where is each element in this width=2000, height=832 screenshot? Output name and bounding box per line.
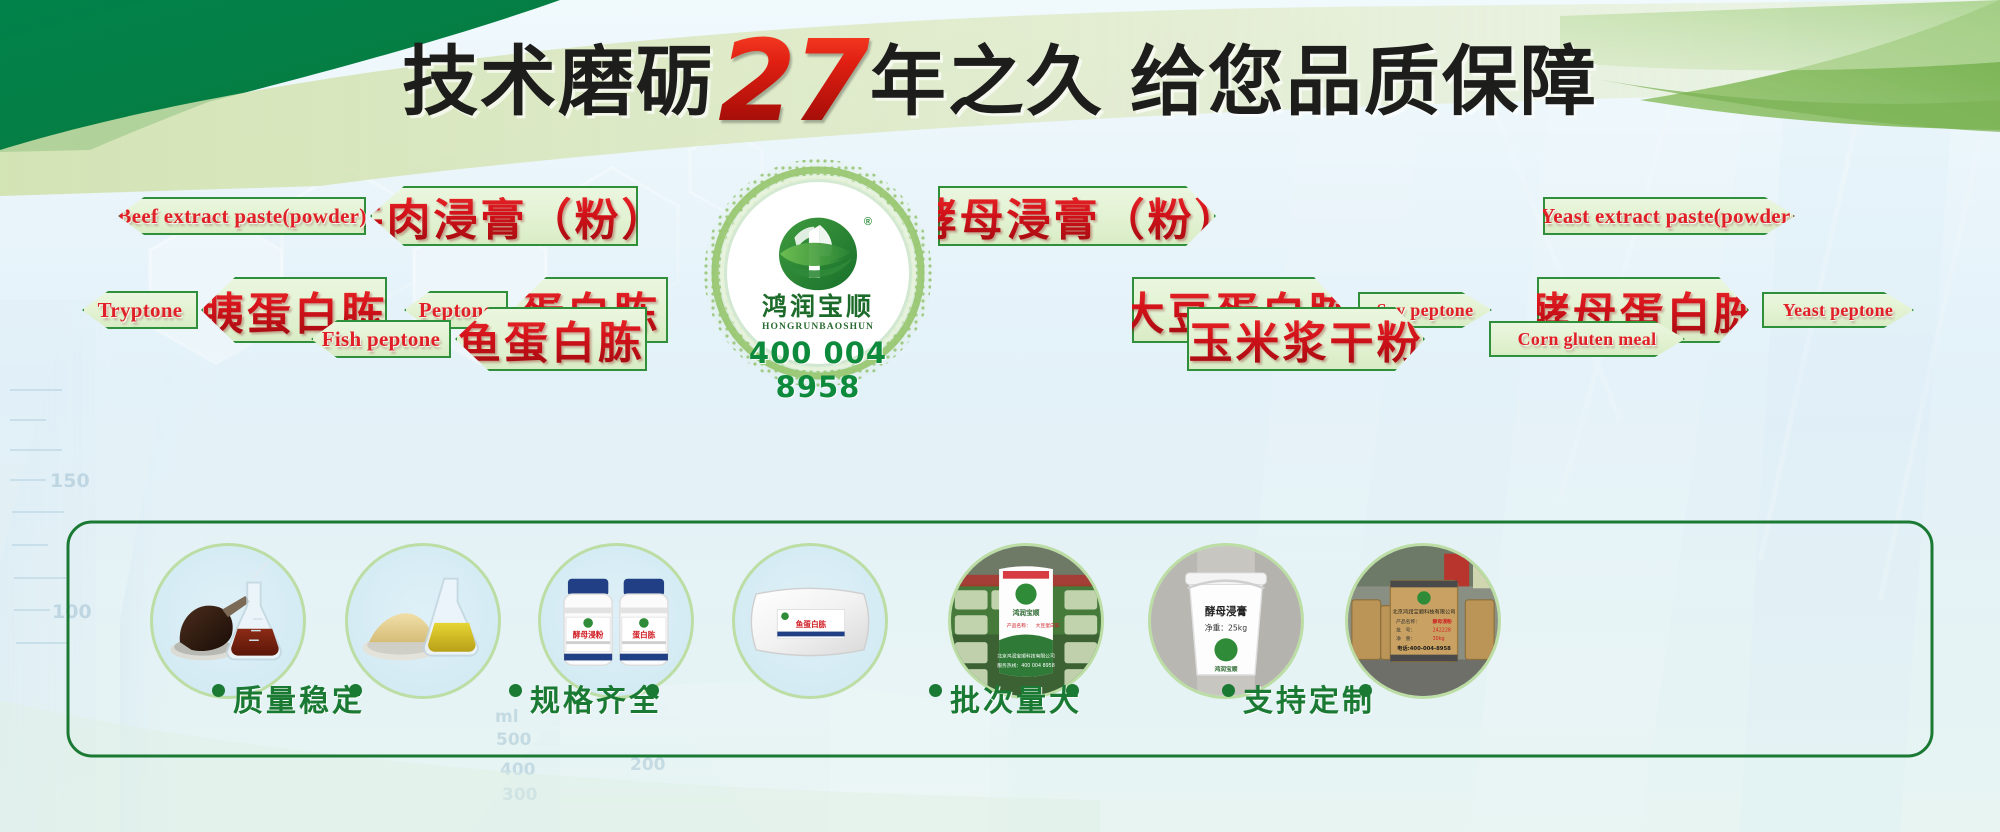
label-text: 鱼蛋白胨 (457, 307, 645, 371)
label-cn-yeast-extract[interactable]: 酵母浸膏（粉） (938, 186, 1216, 246)
svg-text:200: 200 (630, 755, 666, 775)
registered-trademark-icon: ® (864, 216, 872, 228)
label-en-beef-extract[interactable]: Beef extract paste(powder) (118, 197, 366, 235)
features-panel (66, 520, 1934, 758)
feature-caption-4: 支持定制 (1243, 676, 1375, 720)
logo-company-name-pinyin: HONGRUNBAOSHUN (762, 322, 874, 332)
caption-dot-right-4 (1359, 684, 1372, 697)
headline: 技术磨砺27年之久给您品质保障 (0, 26, 2000, 138)
label-en-corn-gluten-meal[interactable]: Corn gluten meal (1489, 321, 1685, 357)
headline-part2: 年之久 (870, 37, 1104, 126)
caption-dot-left-4 (1222, 684, 1235, 697)
logo-mark-icon: ® (772, 214, 864, 292)
caption-dot-left-1 (212, 684, 225, 697)
caption-dot-left-2 (509, 684, 522, 697)
label-cn-corn-gluten-meal[interactable]: 玉米浆干粉 (1187, 307, 1425, 371)
label-cn-fish-peptone[interactable]: 鱼蛋白胨 (455, 307, 647, 371)
label-text: Corn gluten meal (1518, 329, 1657, 350)
headline-part1: 技术磨砺 (402, 37, 714, 126)
label-en-yeast-extract-box[interactable]: Yeast extract paste(powder) (1543, 197, 1795, 235)
headline-part3: 给您品质保障 (1130, 37, 1598, 126)
headline-number: 27 (714, 17, 870, 147)
label-text: Yeast peptone (1783, 300, 1893, 321)
label-en-fish-peptone[interactable]: Fish peptone (311, 320, 451, 358)
label-cn-beef-extract[interactable]: 牛肉浸膏（粉） (370, 186, 638, 246)
label-text: Yeast extract paste(powder) (1540, 204, 1798, 229)
company-logo[interactable]: ® 鸿润宝顺 HONGRUNBAOSHUN 400 004 8958 (703, 158, 933, 388)
caption-dot-left-3 (929, 684, 942, 697)
logo-company-name-cn: 鸿润宝顺 (762, 294, 874, 319)
caption-dot-right-3 (1066, 684, 1079, 697)
label-text: 酵母浸膏（粉） (913, 184, 1242, 248)
label-text: Tryptone (98, 298, 183, 323)
svg-text:150: 150 (50, 470, 90, 492)
label-text: 玉米浆干粉 (1189, 307, 1424, 371)
label-en-yeast-peptone[interactable]: Yeast peptone (1762, 292, 1914, 328)
caption-dot-right-2 (646, 684, 659, 697)
caption-dot-right-1 (349, 684, 362, 697)
feature-caption-3: 批次量大 (950, 676, 1082, 720)
hotline-number[interactable]: 400 004 8958 (703, 336, 933, 404)
feature-caption-2: 规格齐全 (530, 676, 662, 720)
panel-rounded-border (66, 520, 1934, 758)
feature-caption-1: 质量稳定 (233, 676, 365, 720)
label-text: Beef extract paste(powder) (117, 204, 366, 229)
label-text: Fish peptone (322, 327, 441, 352)
banner-stage: 150 100 400300 500 200 ml (0, 0, 2000, 832)
